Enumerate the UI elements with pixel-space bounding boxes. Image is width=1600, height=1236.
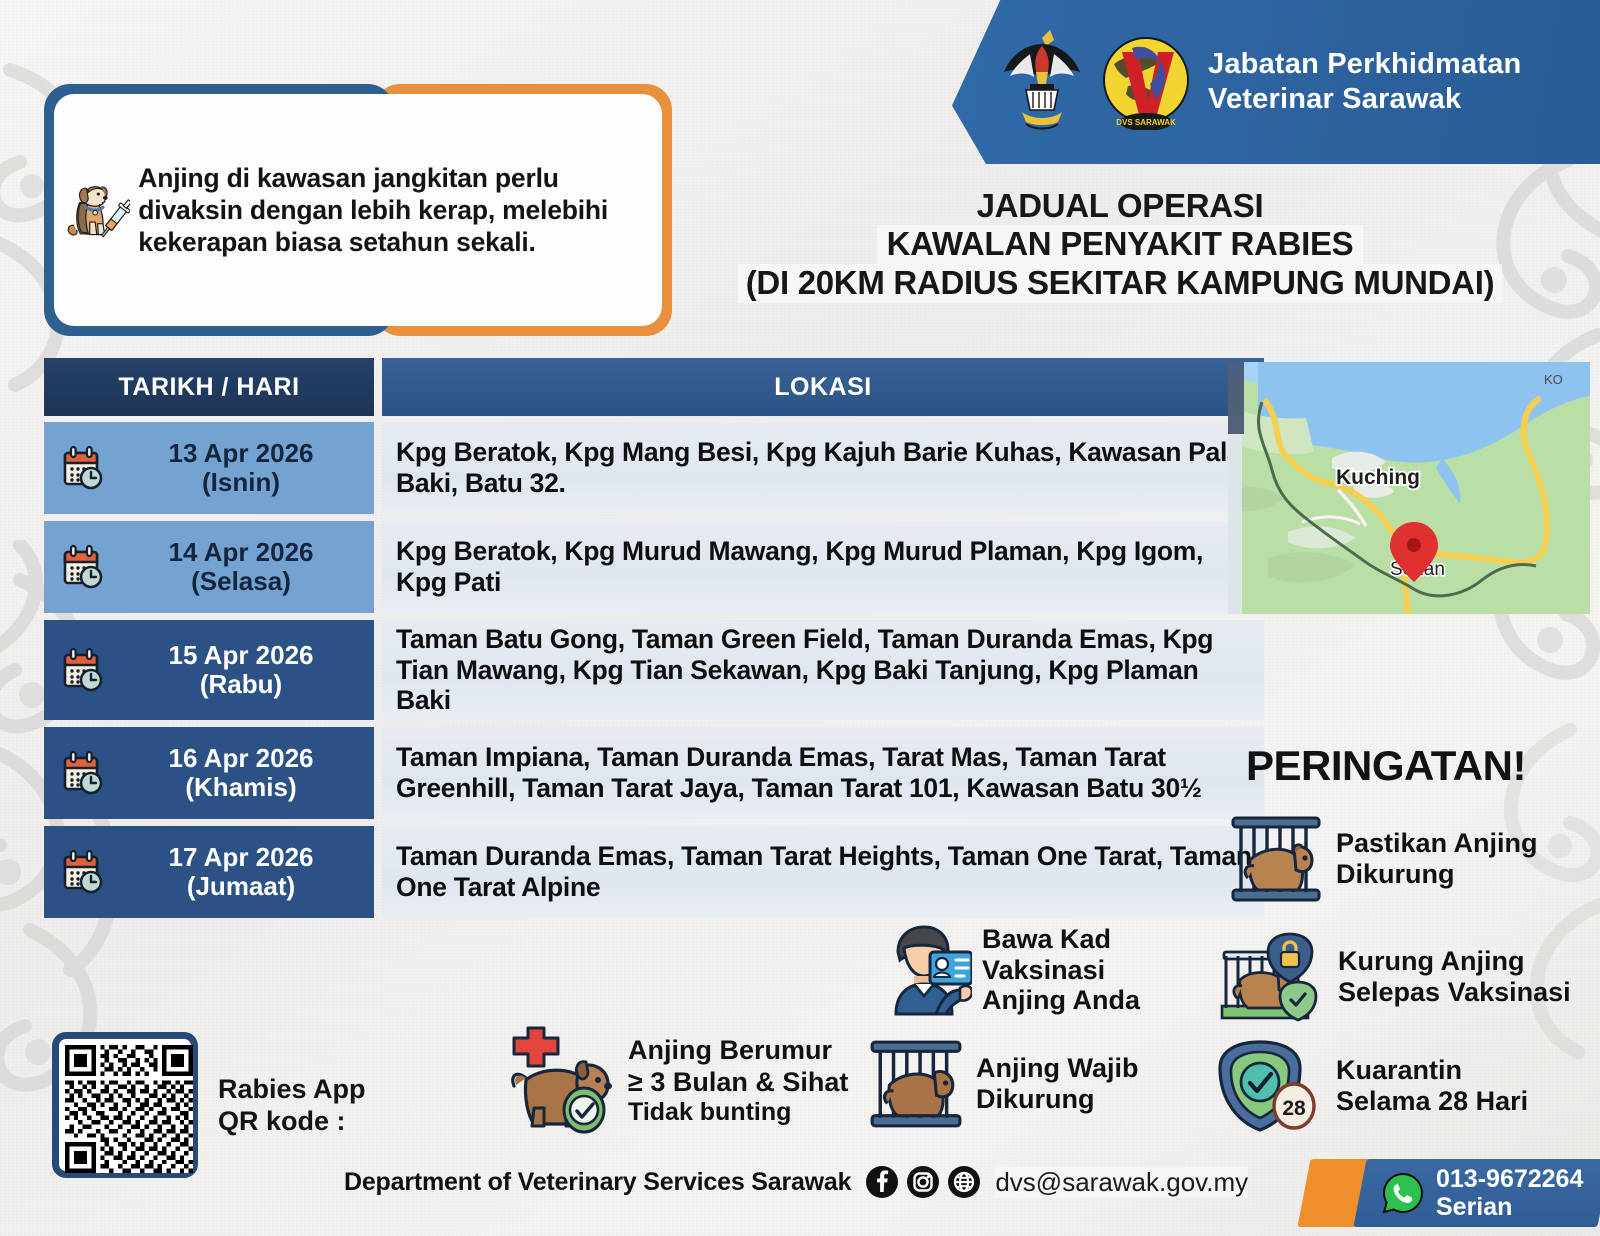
date-value: 14 Apr 2026 — [116, 538, 366, 567]
table-header-row: TARIKH / HARI LOKASI — [44, 358, 1264, 416]
mid-line-3: Anjing Anda — [982, 985, 1140, 1016]
cell-date-text: 15 Apr 2026 (Rabu) — [116, 641, 366, 699]
cell-date-text: 17 Apr 2026 (Jumaat) — [116, 843, 366, 901]
cell-date: 17 Apr 2026 (Jumaat) — [44, 826, 374, 918]
cell-location: Kpg Beratok, Kpg Mang Besi, Kpg Kajuh Ba… — [382, 422, 1264, 514]
warning-line-2: Dikurung — [1336, 859, 1538, 890]
item-label: Anjing Wajib Dikurung — [976, 1053, 1138, 1115]
warning-item-label: Pastikan Anjing Dikurung — [1336, 828, 1538, 890]
date-value: 16 Apr 2026 — [116, 744, 366, 773]
warning-line-2: Selama 28 Hari — [1336, 1086, 1528, 1117]
item-dog-must-be-caged: Anjing Wajib Dikurung — [866, 1036, 1138, 1132]
shield-28-days-icon: 28 — [1216, 1038, 1324, 1134]
cell-date-text: 13 Apr 2026 (Isnin) — [116, 439, 366, 497]
org-line-2: Veterinar Sarawak — [1208, 82, 1521, 117]
warning-item-cage-after-vaccination: Kurung Anjing Selepas Vaksinasi — [1216, 930, 1571, 1024]
table-row: 16 Apr 2026 (Khamis) Taman Impiana, Tama… — [44, 727, 1264, 819]
date-value: 13 Apr 2026 — [116, 439, 366, 468]
day-value: (Jumaat) — [116, 872, 366, 901]
email-address[interactable]: dvs@sarawak.gov.my — [995, 1167, 1248, 1198]
schedule-table: TARIKH / HARI LOKASI 13 Apr 2026 (Isnin) — [44, 358, 1264, 925]
mid-line-2: Dikurung — [976, 1084, 1138, 1115]
cell-location: Taman Duranda Emas, Taman Tarat Heights,… — [382, 826, 1264, 918]
qr-label: Rabies App QR kode : — [218, 1073, 366, 1138]
department-name: Department of Veterinary Services Sarawa… — [344, 1168, 851, 1197]
contact-content: 013-9672264 Serian — [1380, 1165, 1583, 1221]
qr-label-line-1: Rabies App — [218, 1073, 366, 1105]
cell-location: Kpg Beratok, Kpg Murud Mawang, Kpg Murud… — [382, 521, 1264, 613]
contact-place: Serian — [1436, 1193, 1583, 1221]
map-label-ko: KO — [1544, 372, 1563, 387]
svg-text:DVS SARAWAK: DVS SARAWAK — [1116, 118, 1176, 127]
dog-age-line-3: Tidak bunting — [628, 1098, 848, 1127]
qr-block: Rabies App QR kode : — [52, 1032, 366, 1178]
title-line-3: (DI 20KM RADIUS SEKITAR KAMPUNG MUNDAI) — [738, 264, 1503, 303]
warning-item-quarantine: 28 Kuarantin Selama 28 Hari — [1216, 1038, 1528, 1134]
facebook-icon[interactable] — [865, 1165, 899, 1199]
table-row: 14 Apr 2026 (Selasa) Kpg Beratok, Kpg Mu… — [44, 521, 1264, 613]
qr-code[interactable] — [52, 1032, 198, 1178]
healthy-dog-cross-icon — [500, 1026, 620, 1136]
svg-text:28: 28 — [1282, 1097, 1306, 1120]
cell-date: 13 Apr 2026 (Isnin) — [44, 422, 374, 514]
dvs-sarawak-logo-icon: DVS SARAWAK — [1098, 34, 1194, 130]
calendar-clock-icon — [58, 749, 106, 797]
header-identity: DVS SARAWAK Jabatan Perkhidmatan Veterin… — [1000, 26, 1521, 138]
caged-dog-lock-icon — [1216, 930, 1326, 1024]
cell-date: 16 Apr 2026 (Khamis) — [44, 727, 374, 819]
warning-item-caged-dog: Pastikan Anjing Dikurung — [1228, 812, 1538, 906]
calendar-clock-icon — [58, 646, 106, 694]
cell-date-text: 14 Apr 2026 (Selasa) — [116, 538, 366, 596]
item-dog-age-requirement: Anjing Berumur ≥ 3 Bulan & Sihat Tidak b… — [500, 1026, 848, 1136]
title-line-1: JADUAL OPERASI — [690, 188, 1550, 225]
calendar-clock-icon — [58, 543, 106, 591]
column-header-location: LOKASI — [382, 358, 1264, 416]
location-map: Kuching Serian KO — [1228, 362, 1590, 614]
mid-line-1: Anjing Wajib — [976, 1053, 1138, 1084]
person-with-vaccination-card-icon — [876, 922, 972, 1018]
footer: Department of Veterinary Services Sarawa… — [344, 1165, 1248, 1199]
whatsapp-icon[interactable] — [1380, 1170, 1426, 1216]
contact-phone: 013-9672264 — [1436, 1165, 1583, 1193]
social-links[interactable] — [865, 1165, 981, 1199]
cell-location: Taman Impiana, Taman Duranda Emas, Tarat… — [382, 727, 1264, 819]
day-value: (Rabu) — [116, 670, 366, 699]
contact-text: 013-9672264 Serian — [1436, 1165, 1583, 1221]
warning-line-1: Kurung Anjing — [1338, 946, 1571, 977]
table-row: 13 Apr 2026 (Isnin) Kpg Beratok, Kpg Man… — [44, 422, 1264, 514]
date-value: 17 Apr 2026 — [116, 843, 366, 872]
dog-age-line-1: Anjing Berumur — [628, 1035, 848, 1066]
day-value: (Isnin) — [116, 468, 366, 497]
dog-in-cage-icon — [866, 1036, 966, 1132]
day-value: (Khamis) — [116, 773, 366, 802]
calendar-clock-icon — [58, 444, 106, 492]
map-label-kuching: Kuching — [1336, 466, 1420, 489]
contact-badge[interactable]: 013-9672264 Serian — [1304, 1155, 1600, 1227]
calendar-clock-icon — [58, 848, 106, 896]
dog-age-line-2: ≥ 3 Bulan & Sihat — [628, 1067, 848, 1098]
cell-date: 15 Apr 2026 (Rabu) — [44, 620, 374, 720]
item-bring-vaccination-card: Bawa Kad Vaksinasi Anjing Anda — [876, 922, 1140, 1018]
title-line-2: KAWALAN PENYAKIT RABIES — [877, 225, 1364, 264]
mid-line-1: Bawa Kad — [982, 924, 1140, 955]
website-globe-icon[interactable] — [947, 1165, 981, 1199]
warning-line-1: Kuarantin — [1336, 1055, 1528, 1086]
warning-item-label: Kuarantin Selama 28 Hari — [1336, 1055, 1528, 1117]
info-card: Anjing di kawasan jangkitan perlu divaks… — [44, 84, 672, 336]
org-line-1: Jabatan Perkhidmatan — [1208, 47, 1521, 82]
dog-with-syringe-icon — [64, 121, 130, 299]
sarawak-state-crest-icon — [1000, 26, 1084, 138]
info-card-text: Anjing di kawasan jangkitan perlu divaks… — [138, 162, 646, 259]
warning-line-1: Pastikan Anjing — [1336, 828, 1538, 859]
page-title: JADUAL OPERASI KAWALAN PENYAKIT RABIES (… — [690, 188, 1550, 303]
poster-root: DVS SARAWAK Jabatan Perkhidmatan Veterin… — [0, 0, 1600, 1236]
org-name: Jabatan Perkhidmatan Veterinar Sarawak — [1208, 47, 1521, 118]
table-row: 17 Apr 2026 (Jumaat) Taman Duranda Emas,… — [44, 826, 1264, 918]
warning-line-2: Selepas Vaksinasi — [1338, 977, 1571, 1008]
table-row: 15 Apr 2026 (Rabu) Taman Batu Gong, Tama… — [44, 620, 1264, 720]
cell-location: Taman Batu Gong, Taman Green Field, Tama… — [382, 620, 1264, 720]
dog-age-label: Anjing Berumur ≥ 3 Bulan & Sihat Tidak b… — [628, 1035, 848, 1127]
column-header-date: TARIKH / HARI — [44, 358, 374, 416]
cell-date: 14 Apr 2026 (Selasa) — [44, 521, 374, 613]
warning-heading: PERINGATAN! — [1246, 742, 1526, 790]
instagram-icon[interactable] — [906, 1165, 940, 1199]
day-value: (Selasa) — [116, 567, 366, 596]
qr-label-line-2: QR kode : — [218, 1105, 366, 1137]
cell-date-text: 16 Apr 2026 (Khamis) — [116, 744, 366, 802]
date-value: 15 Apr 2026 — [116, 641, 366, 670]
dog-in-cage-icon — [1228, 812, 1324, 906]
mid-line-2: Vaksinasi — [982, 955, 1140, 986]
item-label: Bawa Kad Vaksinasi Anjing Anda — [982, 924, 1140, 1016]
warning-item-label: Kurung Anjing Selepas Vaksinasi — [1338, 946, 1571, 1008]
info-card-body: Anjing di kawasan jangkitan perlu divaks… — [54, 94, 662, 326]
